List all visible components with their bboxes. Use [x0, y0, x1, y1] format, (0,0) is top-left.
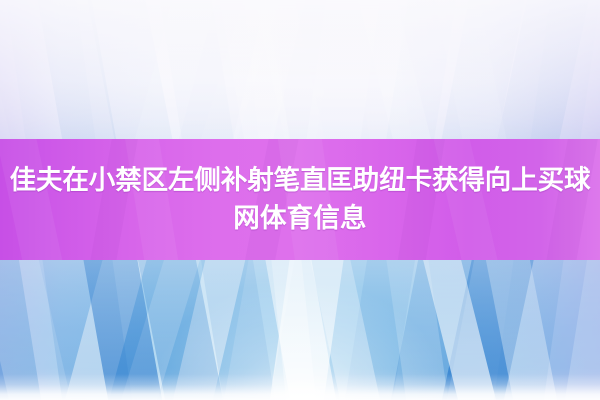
background-bottom-fade	[0, 374, 600, 400]
decorative-banner-image: 佳夫在小禁区左侧补射笔直匡助纽卡获得向上买球 网体育信息	[0, 0, 600, 400]
caption-line-2: 网体育信息	[233, 201, 367, 237]
caption-band: 佳夫在小禁区左侧补射笔直匡助纽卡获得向上买球 网体育信息	[0, 139, 600, 260]
caption-line-1: 佳夫在小禁区左侧补射笔直匡助纽卡获得向上买球	[10, 163, 591, 199]
caption-text-block: 佳夫在小禁区左侧补射笔直匡助纽卡获得向上买球 网体育信息	[0, 139, 600, 260]
